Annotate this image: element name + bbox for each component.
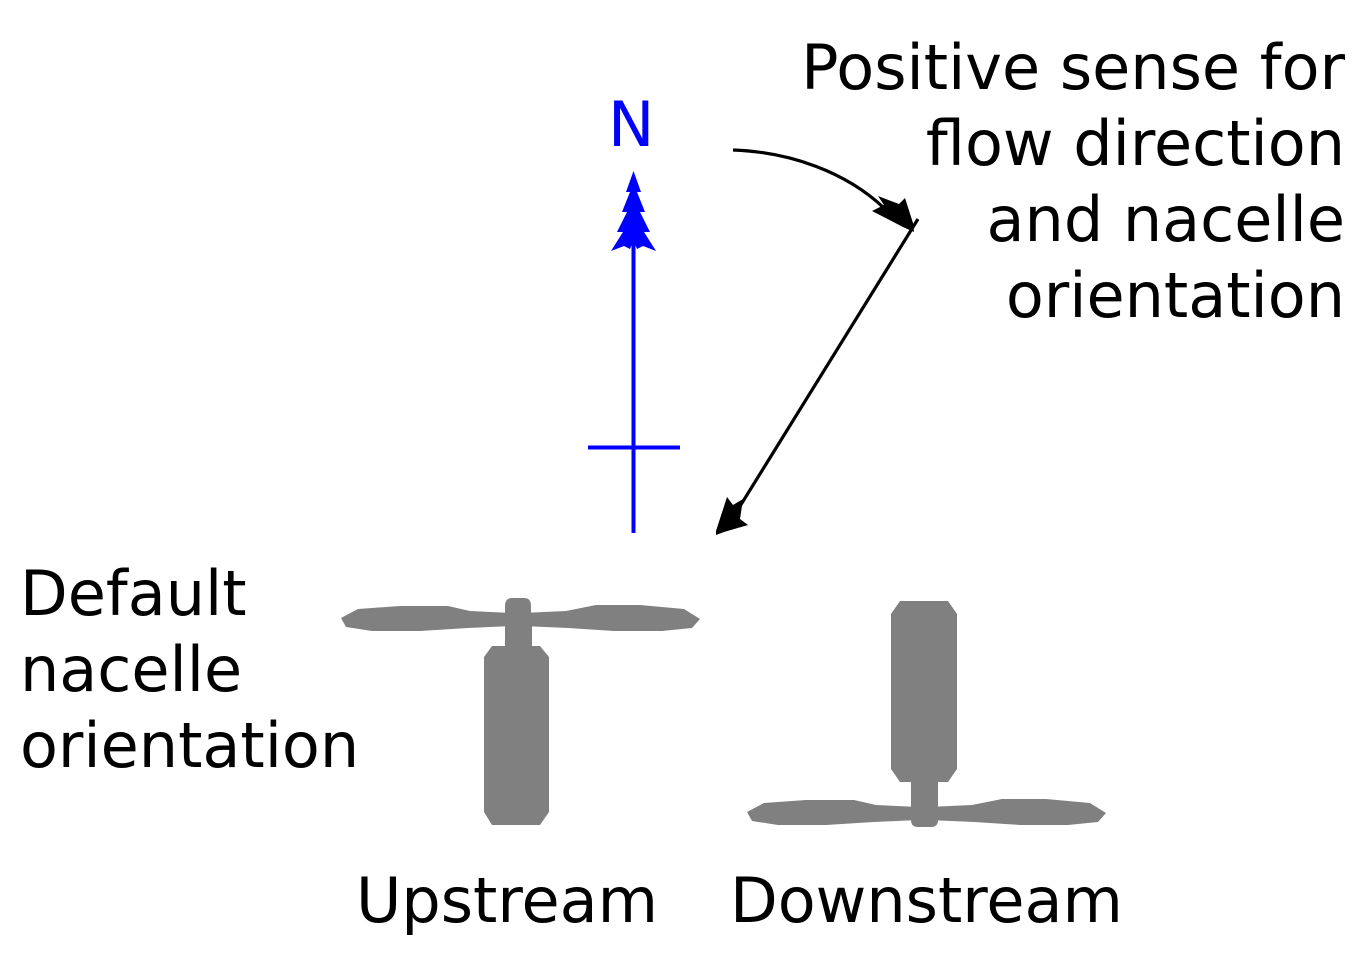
positive-sense-annotation: Positive sense for flow direction and na… [745, 30, 1345, 334]
downstream-turbine-label: Downstream [730, 866, 1123, 936]
upstream-nacelle-body [484, 646, 549, 825]
downstream-blade-right [928, 799, 1106, 825]
downstream-nacelle-body [891, 601, 957, 782]
diagram-canvas: Positive sense for flow direction and na… [0, 0, 1371, 954]
north-arrow-head-icon [611, 171, 656, 251]
upstream-turbine-label: Upstream [356, 866, 658, 936]
upstream-blade-right [522, 605, 700, 631]
default-nacelle-orientation-annotation: Default nacelle orientation [20, 556, 440, 784]
north-label: N [608, 94, 654, 156]
upstream-shaft [505, 620, 532, 650]
turbine-downstream [747, 601, 1106, 827]
downstream-shaft [911, 775, 938, 807]
downstream-blade-left [747, 800, 918, 825]
